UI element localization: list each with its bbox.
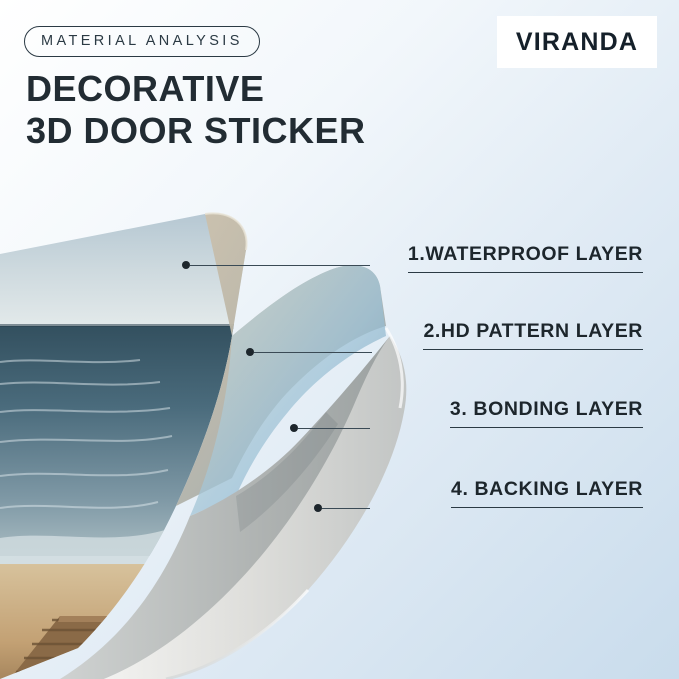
eyebrow-badge: MATERIAL ANALYSIS <box>24 26 260 57</box>
page-title-line-2: 3D DOOR STICKER <box>26 110 366 152</box>
callout-backing-rule <box>451 507 643 508</box>
callout-backing[interactable]: 4. BACKING LAYER <box>451 478 643 508</box>
callout-bonding[interactable]: 3. BONDING LAYER <box>450 398 643 428</box>
callout-hd-pattern-rule <box>423 349 643 350</box>
sticker-illustration <box>0 186 460 679</box>
callout-bonding-rule <box>450 427 643 428</box>
callout-waterproof[interactable]: 1.WATERPROOF LAYER <box>408 243 643 273</box>
callout-backing-label: 4. BACKING LAYER <box>451 478 643 500</box>
poster-canvas: MATERIAL ANALYSIS DECORATIVE 3D DOOR STI… <box>0 0 679 679</box>
callout-waterproof-label: 1.WATERPROOF LAYER <box>408 243 643 265</box>
callout-hd-pattern-label: 2.HD PATTERN LAYER <box>423 320 643 342</box>
brand-logo: VIRANDA <box>497 16 657 68</box>
callout-bonding-label: 3. BONDING LAYER <box>450 398 643 420</box>
brand-name: VIRANDA <box>516 28 638 57</box>
callout-waterproof-rule <box>408 272 643 273</box>
callout-hd-pattern[interactable]: 2.HD PATTERN LAYER <box>423 320 643 350</box>
page-title: DECORATIVE 3D DOOR STICKER <box>26 68 366 153</box>
page-title-line-1: DECORATIVE <box>26 68 264 109</box>
